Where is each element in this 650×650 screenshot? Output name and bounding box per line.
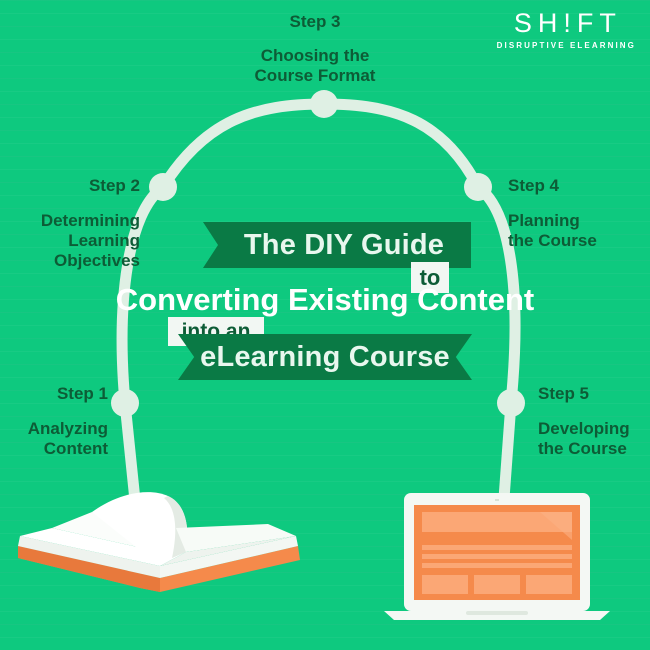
step-4-number: Step 4: [508, 176, 650, 196]
step-node-1[interactable]: [111, 389, 139, 417]
step-3-description: Choosing the Course Format: [205, 46, 425, 86]
infographic-canvas: SH!FT DISRUPTIVE ELEARNING Step 3 Choosi…: [0, 0, 650, 650]
title-line-1: The DIY Guide: [230, 229, 444, 262]
title-line-3: Converting Existing Content: [0, 282, 650, 318]
title-line-5: eLearning Course: [200, 341, 450, 374]
step-label-1[interactable]: Step 1 Analyzing Content: [0, 384, 108, 459]
step-node-5[interactable]: [497, 389, 525, 417]
step-label-3[interactable]: Step 3 Choosing the Course Format: [205, 12, 425, 86]
step-5-description: Developing the Course: [538, 419, 650, 459]
title-ribbon-bottom: eLearning Course: [178, 334, 472, 380]
main-title-block: The DIY Guide to Converting Existing Con…: [0, 222, 650, 392]
step-node-2[interactable]: [149, 173, 177, 201]
step-label-5[interactable]: Step 5 Developing the Course: [538, 384, 650, 459]
arc-segment-left-leg: [125, 403, 136, 510]
step-node-3[interactable]: [310, 90, 338, 118]
step-1-description: Analyzing Content: [0, 419, 108, 459]
step-node-4[interactable]: [464, 173, 492, 201]
arc-segment-right-leg: [503, 403, 511, 512]
step-3-number: Step 3: [205, 12, 425, 32]
step-2-number: Step 2: [0, 176, 140, 196]
